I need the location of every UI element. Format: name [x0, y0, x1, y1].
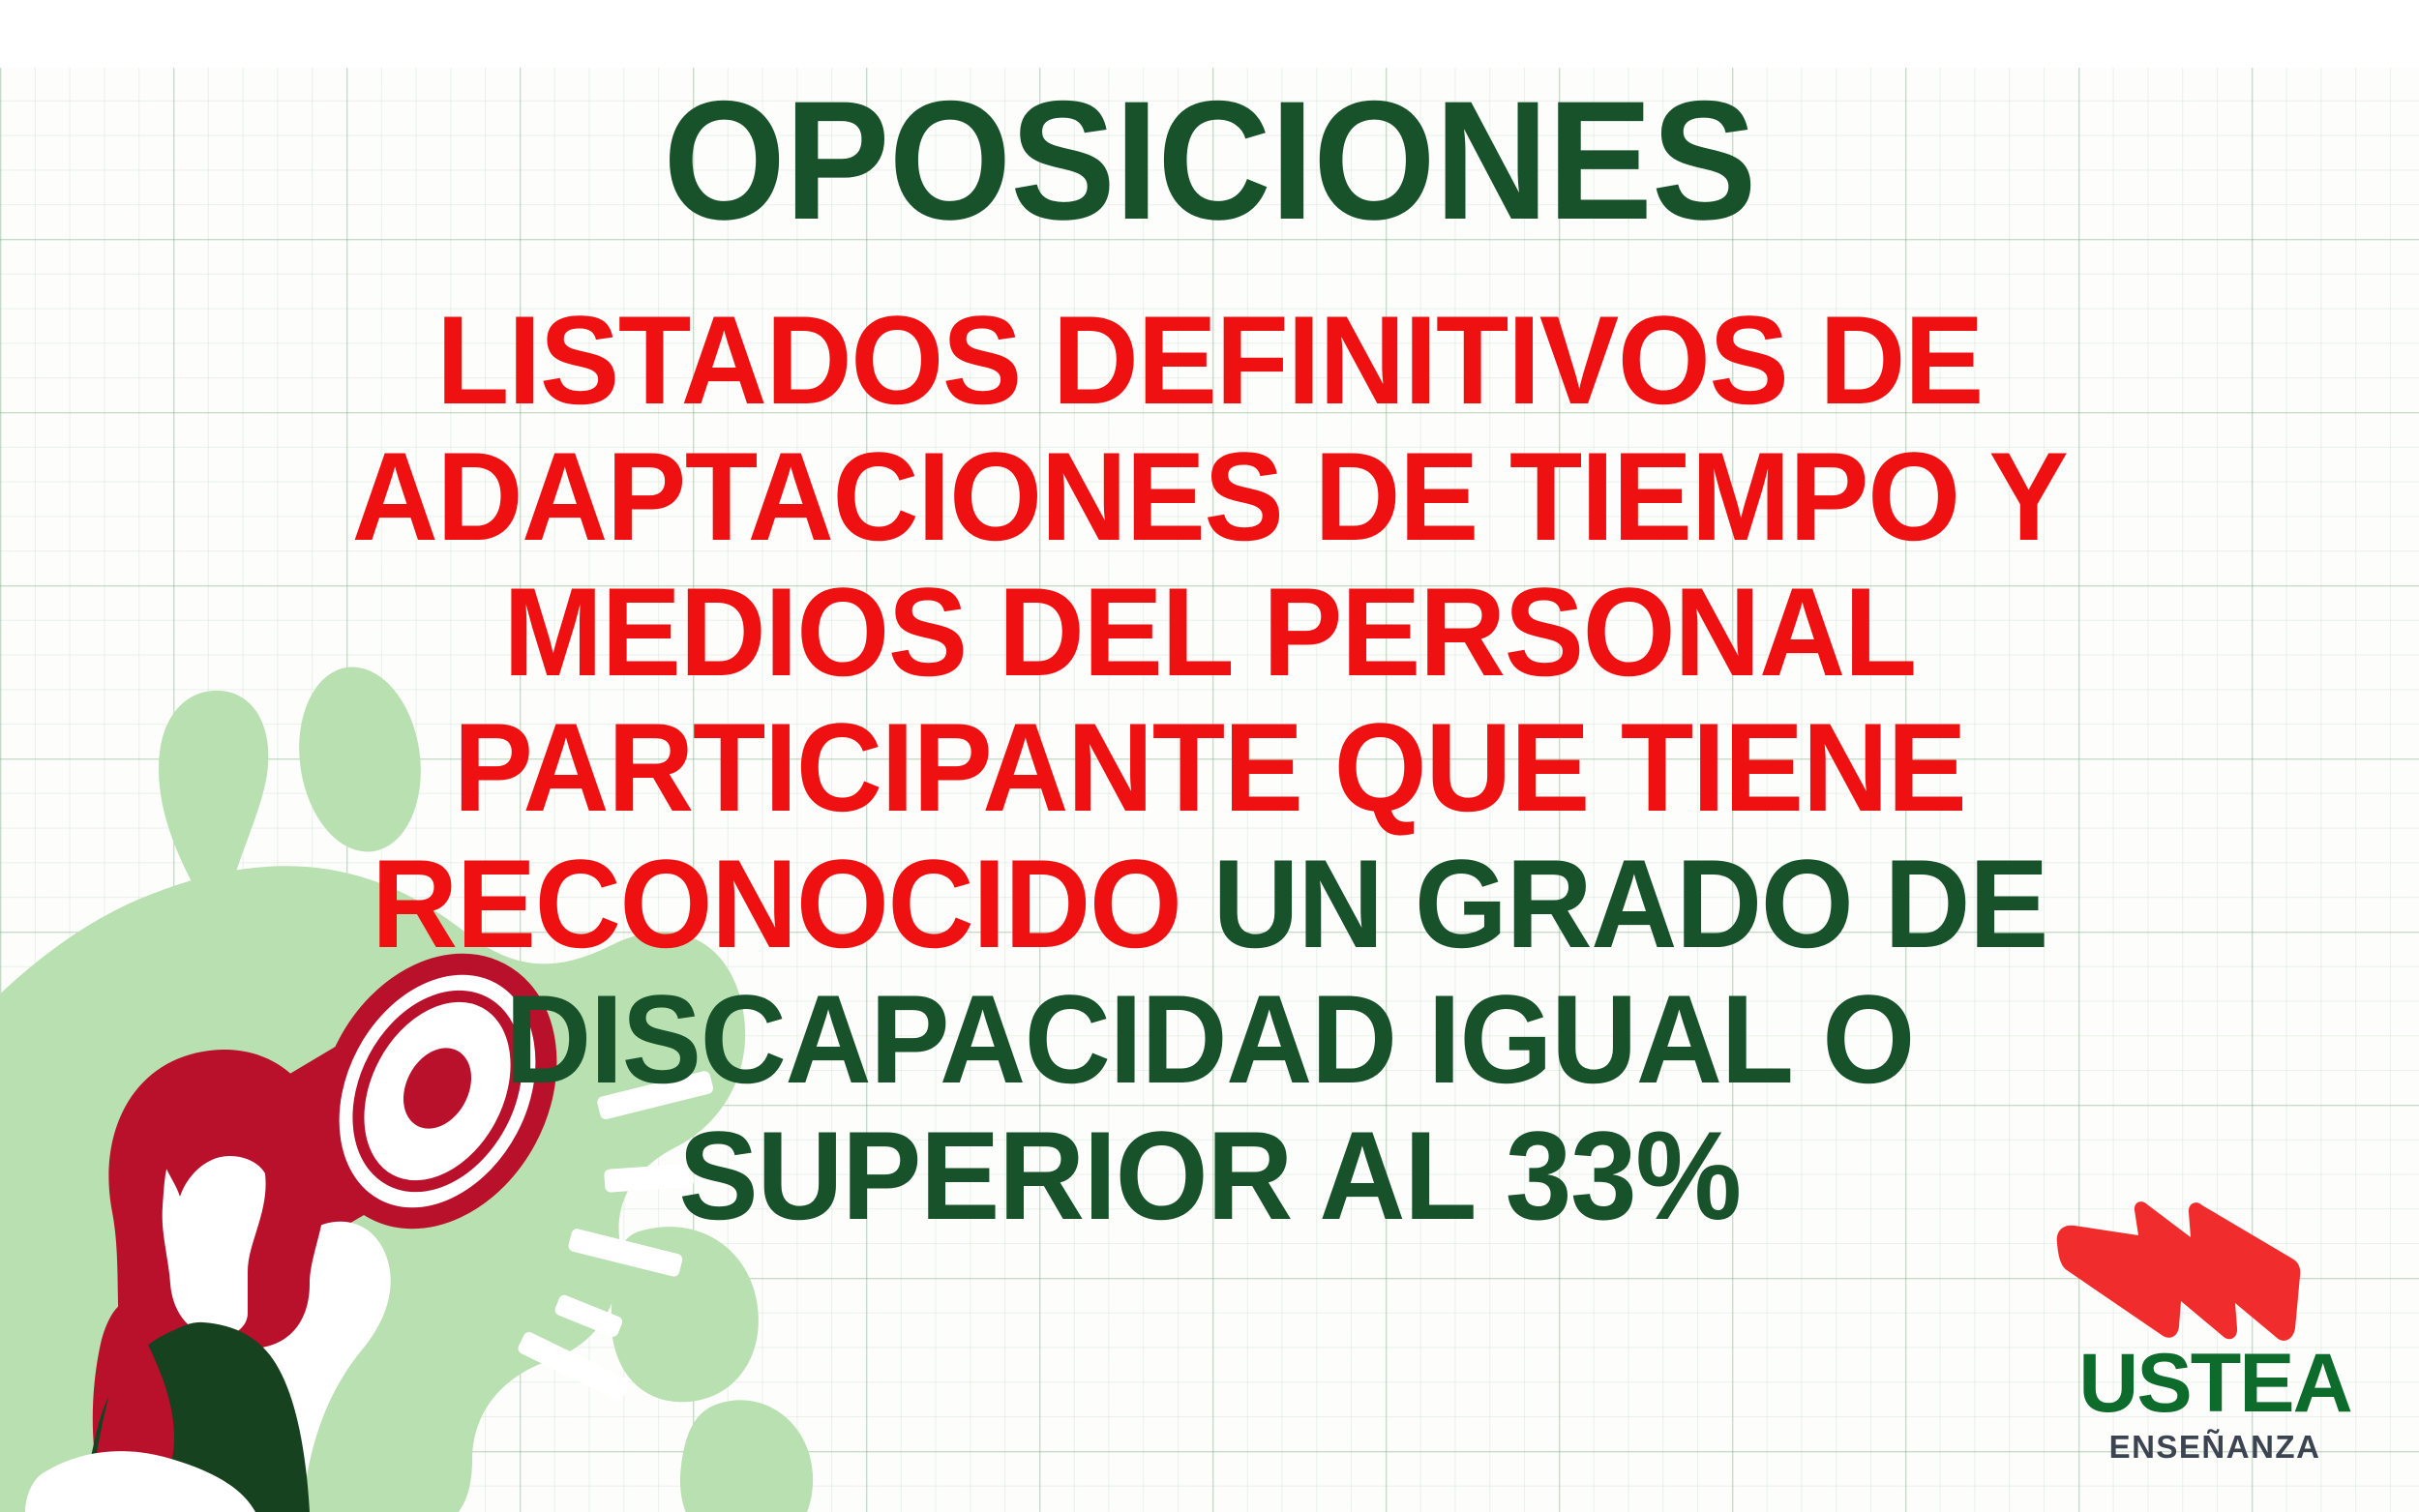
headline-lines: LISTADOS DEFINITIVOS DE ADAPTACIONES DE … [61, 242, 2359, 1243]
lightning-bolt-icon [2046, 1201, 2384, 1346]
headline-segment: LISTADOS DEFINITIVOS DE [436, 289, 1983, 430]
headline-line-2: ADAPTACIONES DE TIEMPO Y [61, 429, 2359, 564]
headline-line-4: PARTICIPANTE QUE TIENE [61, 699, 2359, 835]
page-title: OPOSICIONES [85, 0, 2335, 242]
ustea-logo-name: USTEA [2046, 1342, 2384, 1425]
headline-segment: RECONOCIDO [372, 833, 1212, 974]
ustea-logo-subtitle: ENSEÑANZA [2046, 1431, 2384, 1463]
headline-line-5: RECONOCIDO UN GRADO DE [61, 836, 2359, 971]
headline-line-1: LISTADOS DEFINITIVOS DE [61, 292, 2359, 428]
ustea-logo: USTEA ENSEÑANZA [2046, 1201, 2384, 1491]
headline-segment: MEDIOS DEL PERSONAL [503, 561, 1916, 702]
headline-segment: PARTICIPANTE QUE TIENE [454, 697, 1966, 838]
headline-line-6: DISCAPACIDAD IGUAL O [61, 971, 2359, 1107]
headline-line-3: MEDIOS DEL PERSONAL [61, 564, 2359, 699]
headline-line-7: SUPERIOR AL 33% [61, 1108, 2359, 1243]
headline-segment: SUPERIOR AL 33% [678, 1105, 1740, 1246]
headline-block: OPOSICIONES LISTADOS DEFINITIVOS DE ADAP… [0, 0, 2419, 1243]
headline-segment: DISCAPACIDAD IGUAL O [505, 968, 1914, 1110]
headline-segment: UN GRADO DE [1212, 833, 2047, 974]
poster-canvas: OPOSICIONES LISTADOS DEFINITIVOS DE ADAP… [0, 0, 2419, 1512]
headline-segment: ADAPTACIONES DE TIEMPO Y [352, 426, 2068, 567]
